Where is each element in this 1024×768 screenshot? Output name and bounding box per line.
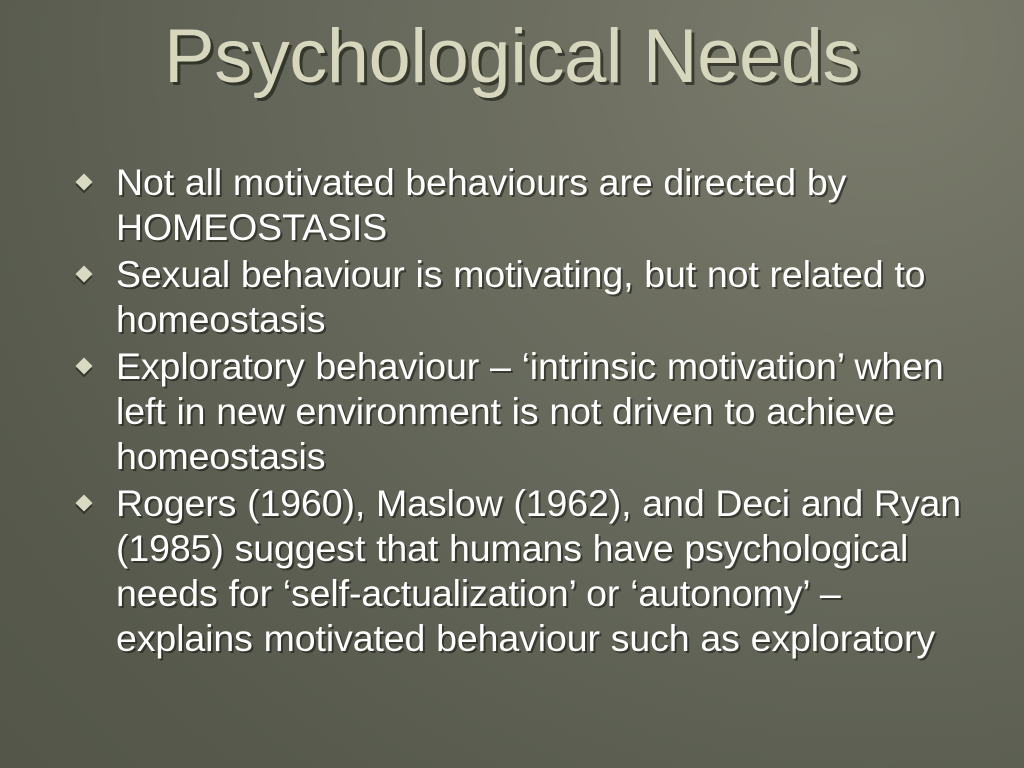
diamond-bullet-icon [76,174,93,191]
bullet-list: Not all motivated behaviours are directe… [70,160,980,663]
list-item-text: Not all motivated behaviours are directe… [116,160,980,250]
list-item-text: Sexual behaviour is motivating, but not … [116,252,980,342]
diamond-bullet-icon [76,266,93,283]
presentation-slide: Psychological Needs Not all motivated be… [0,0,1024,768]
title-block: Psychological Needs [0,16,1024,98]
list-item: Exploratory behaviour – ‘intrinsic motiv… [70,344,980,479]
diamond-bullet-icon [76,358,93,375]
diamond-bullet-icon [76,495,93,512]
page-title: Psychological Needs [164,16,860,98]
list-item: Rogers (1960), Maslow (1962), and Deci a… [70,481,980,661]
list-item-text: Exploratory behaviour – ‘intrinsic motiv… [116,344,980,479]
list-item: Not all motivated behaviours are directe… [70,160,980,250]
list-item-text: Rogers (1960), Maslow (1962), and Deci a… [116,481,980,661]
list-item: Sexual behaviour is motivating, but not … [70,252,980,342]
